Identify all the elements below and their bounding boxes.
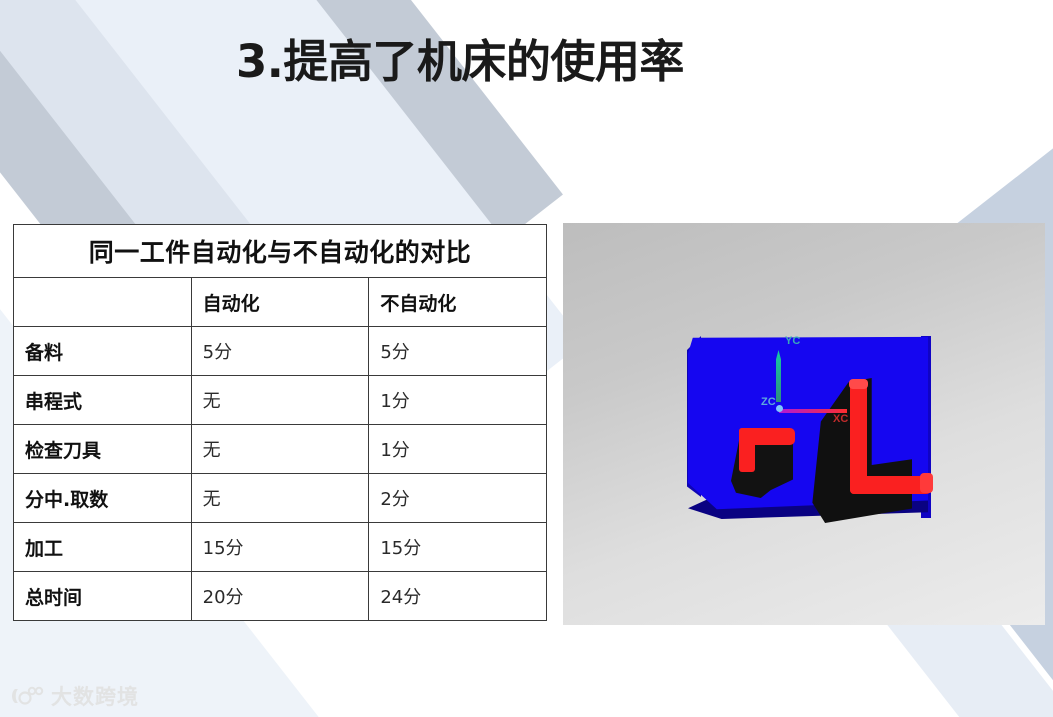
column-header-manual: 不自动化 bbox=[369, 278, 547, 327]
row-label: 总时间 bbox=[14, 572, 192, 621]
right-pocket-cap-top bbox=[849, 379, 868, 389]
row-value-manual: 24分 bbox=[369, 572, 547, 621]
table-row: 备料 5分 5分 bbox=[14, 327, 547, 376]
table-caption-row: 同一工件自动化与不自动化的对比 bbox=[14, 225, 547, 278]
axis-origin-icon bbox=[776, 405, 783, 412]
cad-viewport: YC ZC XC bbox=[563, 223, 1045, 625]
page-title: 3.提高了机床的使用率 bbox=[236, 36, 684, 88]
row-value-manual: 15分 bbox=[369, 523, 547, 572]
left-pocket-wall-horizontal bbox=[739, 428, 795, 445]
watermark: 大数跨境 bbox=[10, 681, 139, 711]
row-value-manual: 1分 bbox=[369, 425, 547, 474]
row-value-auto: 20分 bbox=[191, 572, 369, 621]
table-row: 串程式 无 1分 bbox=[14, 376, 547, 425]
row-value-auto: 无 bbox=[191, 376, 369, 425]
table-header-row: 自动化 不自动化 bbox=[14, 278, 547, 327]
row-value-manual: 5分 bbox=[369, 327, 547, 376]
column-header-automated: 自动化 bbox=[191, 278, 369, 327]
slide-canvas: 3.提高了机床的使用率 同一工件自动化与不自动化的对比 自动化 不自动化 备料 … bbox=[0, 0, 1053, 717]
row-value-auto: 无 bbox=[191, 474, 369, 523]
column-header-item bbox=[14, 278, 192, 327]
row-value-auto: 15分 bbox=[191, 523, 369, 572]
comparison-table-container: 同一工件自动化与不自动化的对比 自动化 不自动化 备料 5分 5分 串程式 无 … bbox=[13, 224, 547, 621]
row-label: 加工 bbox=[14, 523, 192, 572]
right-pocket-cap-end bbox=[920, 473, 933, 493]
table-caption: 同一工件自动化与不自动化的对比 bbox=[14, 225, 547, 278]
axis-label-z: ZC bbox=[761, 396, 776, 408]
axis-label-x: XC bbox=[833, 413, 848, 425]
comparison-table: 同一工件自动化与不自动化的对比 自动化 不自动化 备料 5分 5分 串程式 无 … bbox=[13, 224, 547, 621]
table-row: 加工 15分 15分 bbox=[14, 523, 547, 572]
table-row: 检查刀具 无 1分 bbox=[14, 425, 547, 474]
row-value-auto: 5分 bbox=[191, 327, 369, 376]
table-row: 总时间 20分 24分 bbox=[14, 572, 547, 621]
table-row: 分中.取数 无 2分 bbox=[14, 474, 547, 523]
row-label: 检查刀具 bbox=[14, 425, 192, 474]
row-value-auto: 无 bbox=[191, 425, 369, 474]
dashukuajing-logo-icon bbox=[10, 685, 44, 707]
row-value-manual: 2分 bbox=[369, 474, 547, 523]
axis-y-arrow-icon bbox=[776, 350, 781, 402]
row-label: 备料 bbox=[14, 327, 192, 376]
watermark-label: 大数跨境 bbox=[51, 681, 139, 711]
row-value-manual: 1分 bbox=[369, 376, 547, 425]
row-label: 串程式 bbox=[14, 376, 192, 425]
row-label: 分中.取数 bbox=[14, 474, 192, 523]
axis-label-y: YC bbox=[785, 335, 800, 347]
cad-model-image: YC ZC XC bbox=[563, 223, 1045, 625]
